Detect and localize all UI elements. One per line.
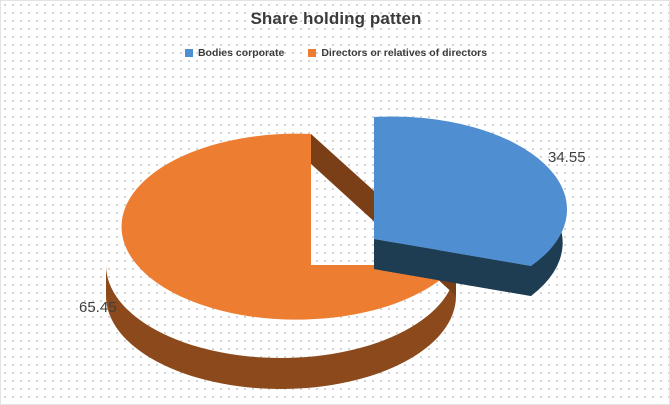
data-label-directors: 65.45 [79,299,117,316]
pie-chart-graphic [1,1,670,405]
pie-slice-blue-top[interactable] [374,117,567,266]
chart-canvas: Share holding patten Bodies corporate Di… [0,0,670,405]
data-label-bodies-corporate: 34.55 [548,149,586,166]
pie-chart-plot-area: 34.55 65.45 [1,1,670,405]
